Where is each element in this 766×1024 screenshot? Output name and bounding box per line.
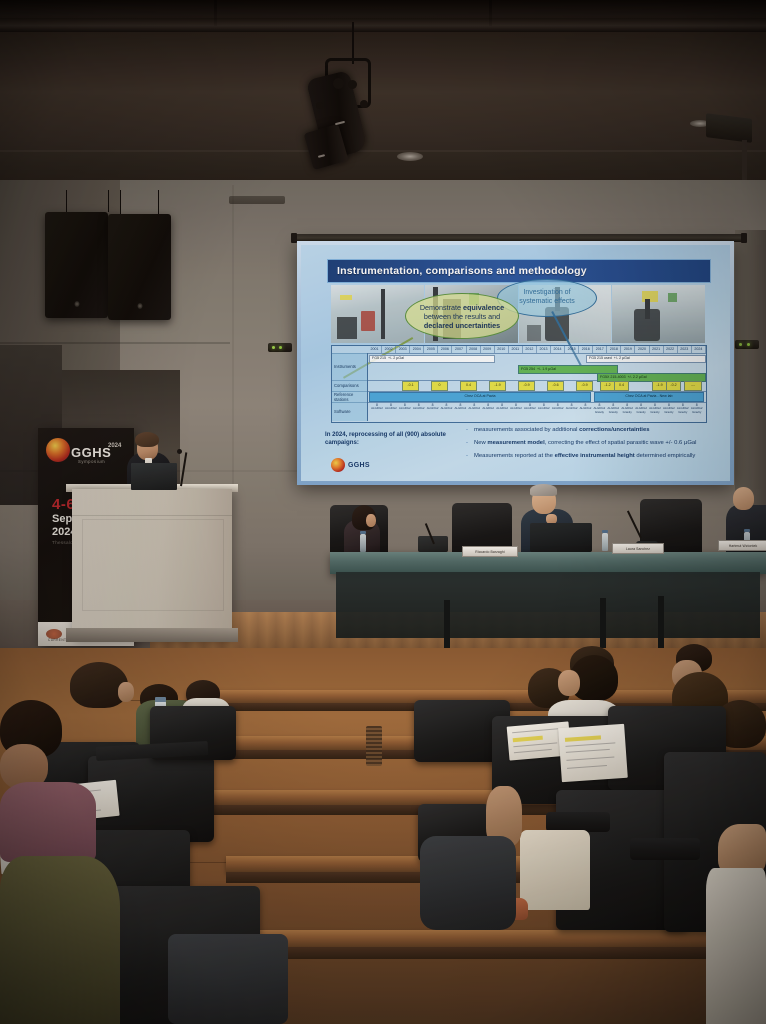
wall-duct <box>229 196 285 204</box>
lecture-hall-photo: Instrumentation, comparisons and methodo… <box>0 0 766 1024</box>
water-bottle-cap-3 <box>744 529 750 532</box>
software-cell: 8ALGDG2Gravity <box>689 404 705 414</box>
water-bottle-cap-2 <box>602 530 608 533</box>
callout-blue-line2: systematic effects <box>519 298 575 307</box>
row-label-software: Software <box>332 402 368 421</box>
year-cell: 2023 <box>678 346 692 353</box>
nameplate-3: Hartmut Wziontek <box>718 540 766 551</box>
callout-blue-line1: Investigation of <box>519 289 575 298</box>
year-cell: 2011 <box>509 346 523 353</box>
ceiling-equipment-box <box>706 113 752 143</box>
year-cell: 2019 <box>621 346 635 353</box>
panelist-2-hair <box>530 484 557 496</box>
comparison-cell: -0.9 <box>576 381 593 391</box>
comparison-cell: -1.9 <box>652 381 667 391</box>
panel-table-skirt <box>336 572 760 638</box>
ceiling-beam-front <box>0 0 766 16</box>
year-cell: 2017 <box>593 346 607 353</box>
banner-logo-sub: Symposium <box>78 459 105 464</box>
footer-bullet-1: measurements associated by additional co… <box>465 427 715 435</box>
comparison-cell: 0.4 <box>614 381 629 391</box>
ceiling-panel-seam <box>0 150 766 152</box>
audience-body-fg-right <box>706 868 766 1024</box>
comparison-cell: --- <box>684 381 702 391</box>
row-label-comparisons: Comparisons <box>332 380 368 391</box>
seat-armrest-r2 <box>630 838 700 860</box>
table-year-header: 2001 2002 2003 2004 2005 2006 2007 2008 … <box>368 346 706 353</box>
row-label-instruments: Instruments <box>332 353 368 380</box>
year-cell: 2021 <box>650 346 664 353</box>
year-cell: 2001 <box>368 346 382 353</box>
year-cell: 2024 <box>692 346 706 353</box>
audience-backpack-left <box>168 934 288 1024</box>
podium-laptop <box>131 463 177 490</box>
year-cell: 2006 <box>438 346 452 353</box>
gghs-globe-icon <box>331 458 345 472</box>
callout-yellow-line2: between the results and <box>420 312 504 321</box>
panel-table-leg-3 <box>658 596 664 654</box>
callout-yellow-equivalence: Demonstrate equivalence between the resu… <box>405 293 519 339</box>
year-cell: 2007 <box>452 346 466 353</box>
presentation-slide: Instrumentation, comparisons and methodo… <box>301 245 730 481</box>
comparison-cell: -0.2 <box>666 381 681 391</box>
audience-face-r3 <box>558 670 580 696</box>
year-cell: 2009 <box>481 346 495 353</box>
callout-yellow-line3: declared uncertainties <box>420 321 504 330</box>
seat-armrest-r1 <box>546 812 610 832</box>
podium-microphone-head <box>177 449 182 454</box>
panelist-3-head <box>733 487 754 510</box>
ceiling-hanger-2 <box>489 0 492 26</box>
year-cell: 2008 <box>467 346 481 353</box>
projection-screen: Instrumentation, comparisons and methodo… <box>297 241 734 485</box>
wall-sensor-right <box>735 340 759 349</box>
wall-seam-1 <box>0 342 230 344</box>
floor-vent-grille <box>366 726 382 766</box>
slide-gghs-logo: GGHS <box>331 455 383 475</box>
year-cell: 2004 <box>410 346 424 353</box>
water-bottle-1 <box>360 534 366 552</box>
banner-logo-text: GGHS <box>71 445 111 460</box>
wall-seam-2 <box>232 185 234 485</box>
slide-title-bar: Instrumentation, comparisons and methodo… <box>327 259 711 283</box>
comparison-cell: -0.1 <box>402 381 419 391</box>
comparison-cell: -0.6 <box>547 381 564 391</box>
footer-bullet-3: Measurements reported at the effective i… <box>465 453 715 461</box>
ceiling-hanger-1 <box>214 0 217 26</box>
panel-table <box>330 552 766 574</box>
reference-station-bar-1: Chez OCA at Pavia <box>369 392 591 402</box>
ceiling-lighting-rail <box>0 18 766 32</box>
year-cell: 2016 <box>579 346 593 353</box>
comparison-cell: 0.4 <box>460 381 477 391</box>
year-cell: 2010 <box>495 346 509 353</box>
audience-body-fg1 <box>0 782 96 862</box>
year-cell: 2013 <box>537 346 551 353</box>
audience-shorts-r1 <box>520 830 590 910</box>
instrument-bar-fg5-215-used: FG5 215 used +/- 2 µGal <box>586 355 706 363</box>
audience-program-r2 <box>558 724 628 782</box>
recessed-downlight-1 <box>397 152 423 161</box>
comparison-cell: -0.9 <box>518 381 535 391</box>
year-cell: 2005 <box>424 346 438 353</box>
right-wall-column <box>735 230 766 520</box>
instrument-bar-fg5-215: FG5 215 +/- 2 µGal <box>369 355 495 363</box>
slide-logo-text: GGHS <box>348 462 370 469</box>
comparison-cell: -1.2 <box>600 381 615 391</box>
banner-logo-year: 2024 <box>108 444 118 449</box>
slide-title-text: Instrumentation, comparisons and methodo… <box>328 265 587 277</box>
year-cell: 2014 <box>551 346 565 353</box>
timeline-table: 2001 2002 2003 2004 2005 2006 2007 2008 … <box>331 345 707 423</box>
year-cell: 2002 <box>382 346 396 353</box>
nameplate-2: Laura Sanchez <box>612 543 664 554</box>
aisle-step-face-5 <box>244 947 766 959</box>
wall-sensor-left <box>268 343 292 352</box>
footer-bullet-2: New measurement model, correcting the ef… <box>465 440 715 448</box>
comparison-cell: -1.9 <box>489 381 506 391</box>
comparison-cell: 0 <box>431 381 448 391</box>
year-cell: 2015 <box>565 346 579 353</box>
reference-station-bar-2: Chez OCA at Pavia - New lab <box>594 392 704 402</box>
year-cell: 2012 <box>523 346 537 353</box>
year-cell: 2003 <box>396 346 410 353</box>
nameplate-1: Riccardo Barzaghi <box>462 546 518 557</box>
podium <box>72 489 232 639</box>
presenter-hair <box>135 432 159 447</box>
audience-ear-l1 <box>118 682 134 702</box>
year-cell: 2022 <box>664 346 678 353</box>
audience-backpack-right <box>420 836 516 930</box>
panelist-1-face <box>366 514 376 527</box>
year-cell: 2018 <box>607 346 621 353</box>
water-bottle-2 <box>602 533 608 551</box>
water-bottle-cap-1 <box>360 531 366 534</box>
panel-laptop-screen <box>530 523 592 552</box>
instrument-photo-4 <box>612 285 705 343</box>
banner-globe-icon <box>46 438 70 462</box>
row-label-reference-stations: Reference stations <box>332 391 368 402</box>
audience-water-bottle-cap <box>155 697 166 702</box>
ceiling <box>0 0 766 200</box>
aisle-step-5 <box>244 930 766 948</box>
podium-base <box>66 628 238 642</box>
footer-lead-text: In 2024, reprocessing of all (900) absol… <box>325 431 459 447</box>
year-cell: 2020 <box>635 346 649 353</box>
audience-body-fg2 <box>0 856 120 1024</box>
callout-yellow-line1: Demonstrate equivalence <box>420 303 504 312</box>
